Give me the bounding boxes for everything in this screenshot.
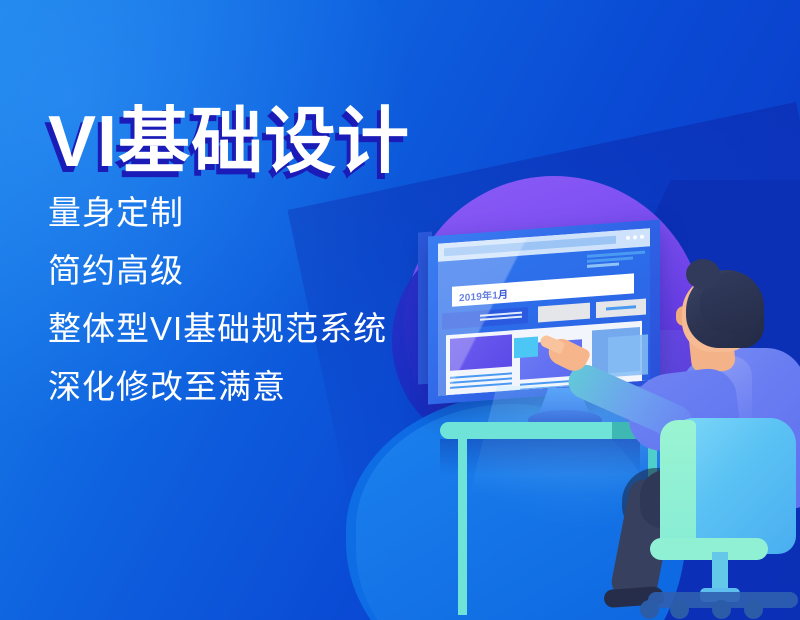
chair-wheel [640,600,659,619]
feature-item: 整体型VI基础规范系统 [48,312,387,345]
desk-leg-left [458,437,467,615]
chair-wheel [744,600,763,619]
window-body: 2019年1月 [438,246,650,396]
banner-headline: VI基础设计 [48,106,410,178]
header-lines-decoration [587,251,645,270]
desk-shadow [440,439,640,475]
content-card-badge [514,336,538,358]
feature-item: 简约高级 [48,254,387,287]
window-dots-icon [626,235,644,240]
monitor-screen: 2019年1月 [438,228,650,396]
address-bar-text: 2019年1月 [459,285,508,304]
feature-list: 量身定制 简约高级 整体型VI基础规范系统 深化修改至满意 [48,196,387,428]
chair-wheel [712,600,731,619]
feature-item: 量身定制 [48,196,387,229]
chair-post [712,552,728,592]
chip-primary [442,307,528,329]
chair-seat [650,538,768,560]
chip-secondary-1 [538,303,590,323]
chip-secondary-2 [596,299,646,319]
promo-banner: 2019年1月 [0,0,800,620]
chair-wheel [670,600,689,619]
content-card-light-2 [608,334,648,377]
content-card-purple [450,334,512,371]
feature-item: 深化修改至满意 [48,370,387,403]
person-hair-bun [686,259,720,289]
